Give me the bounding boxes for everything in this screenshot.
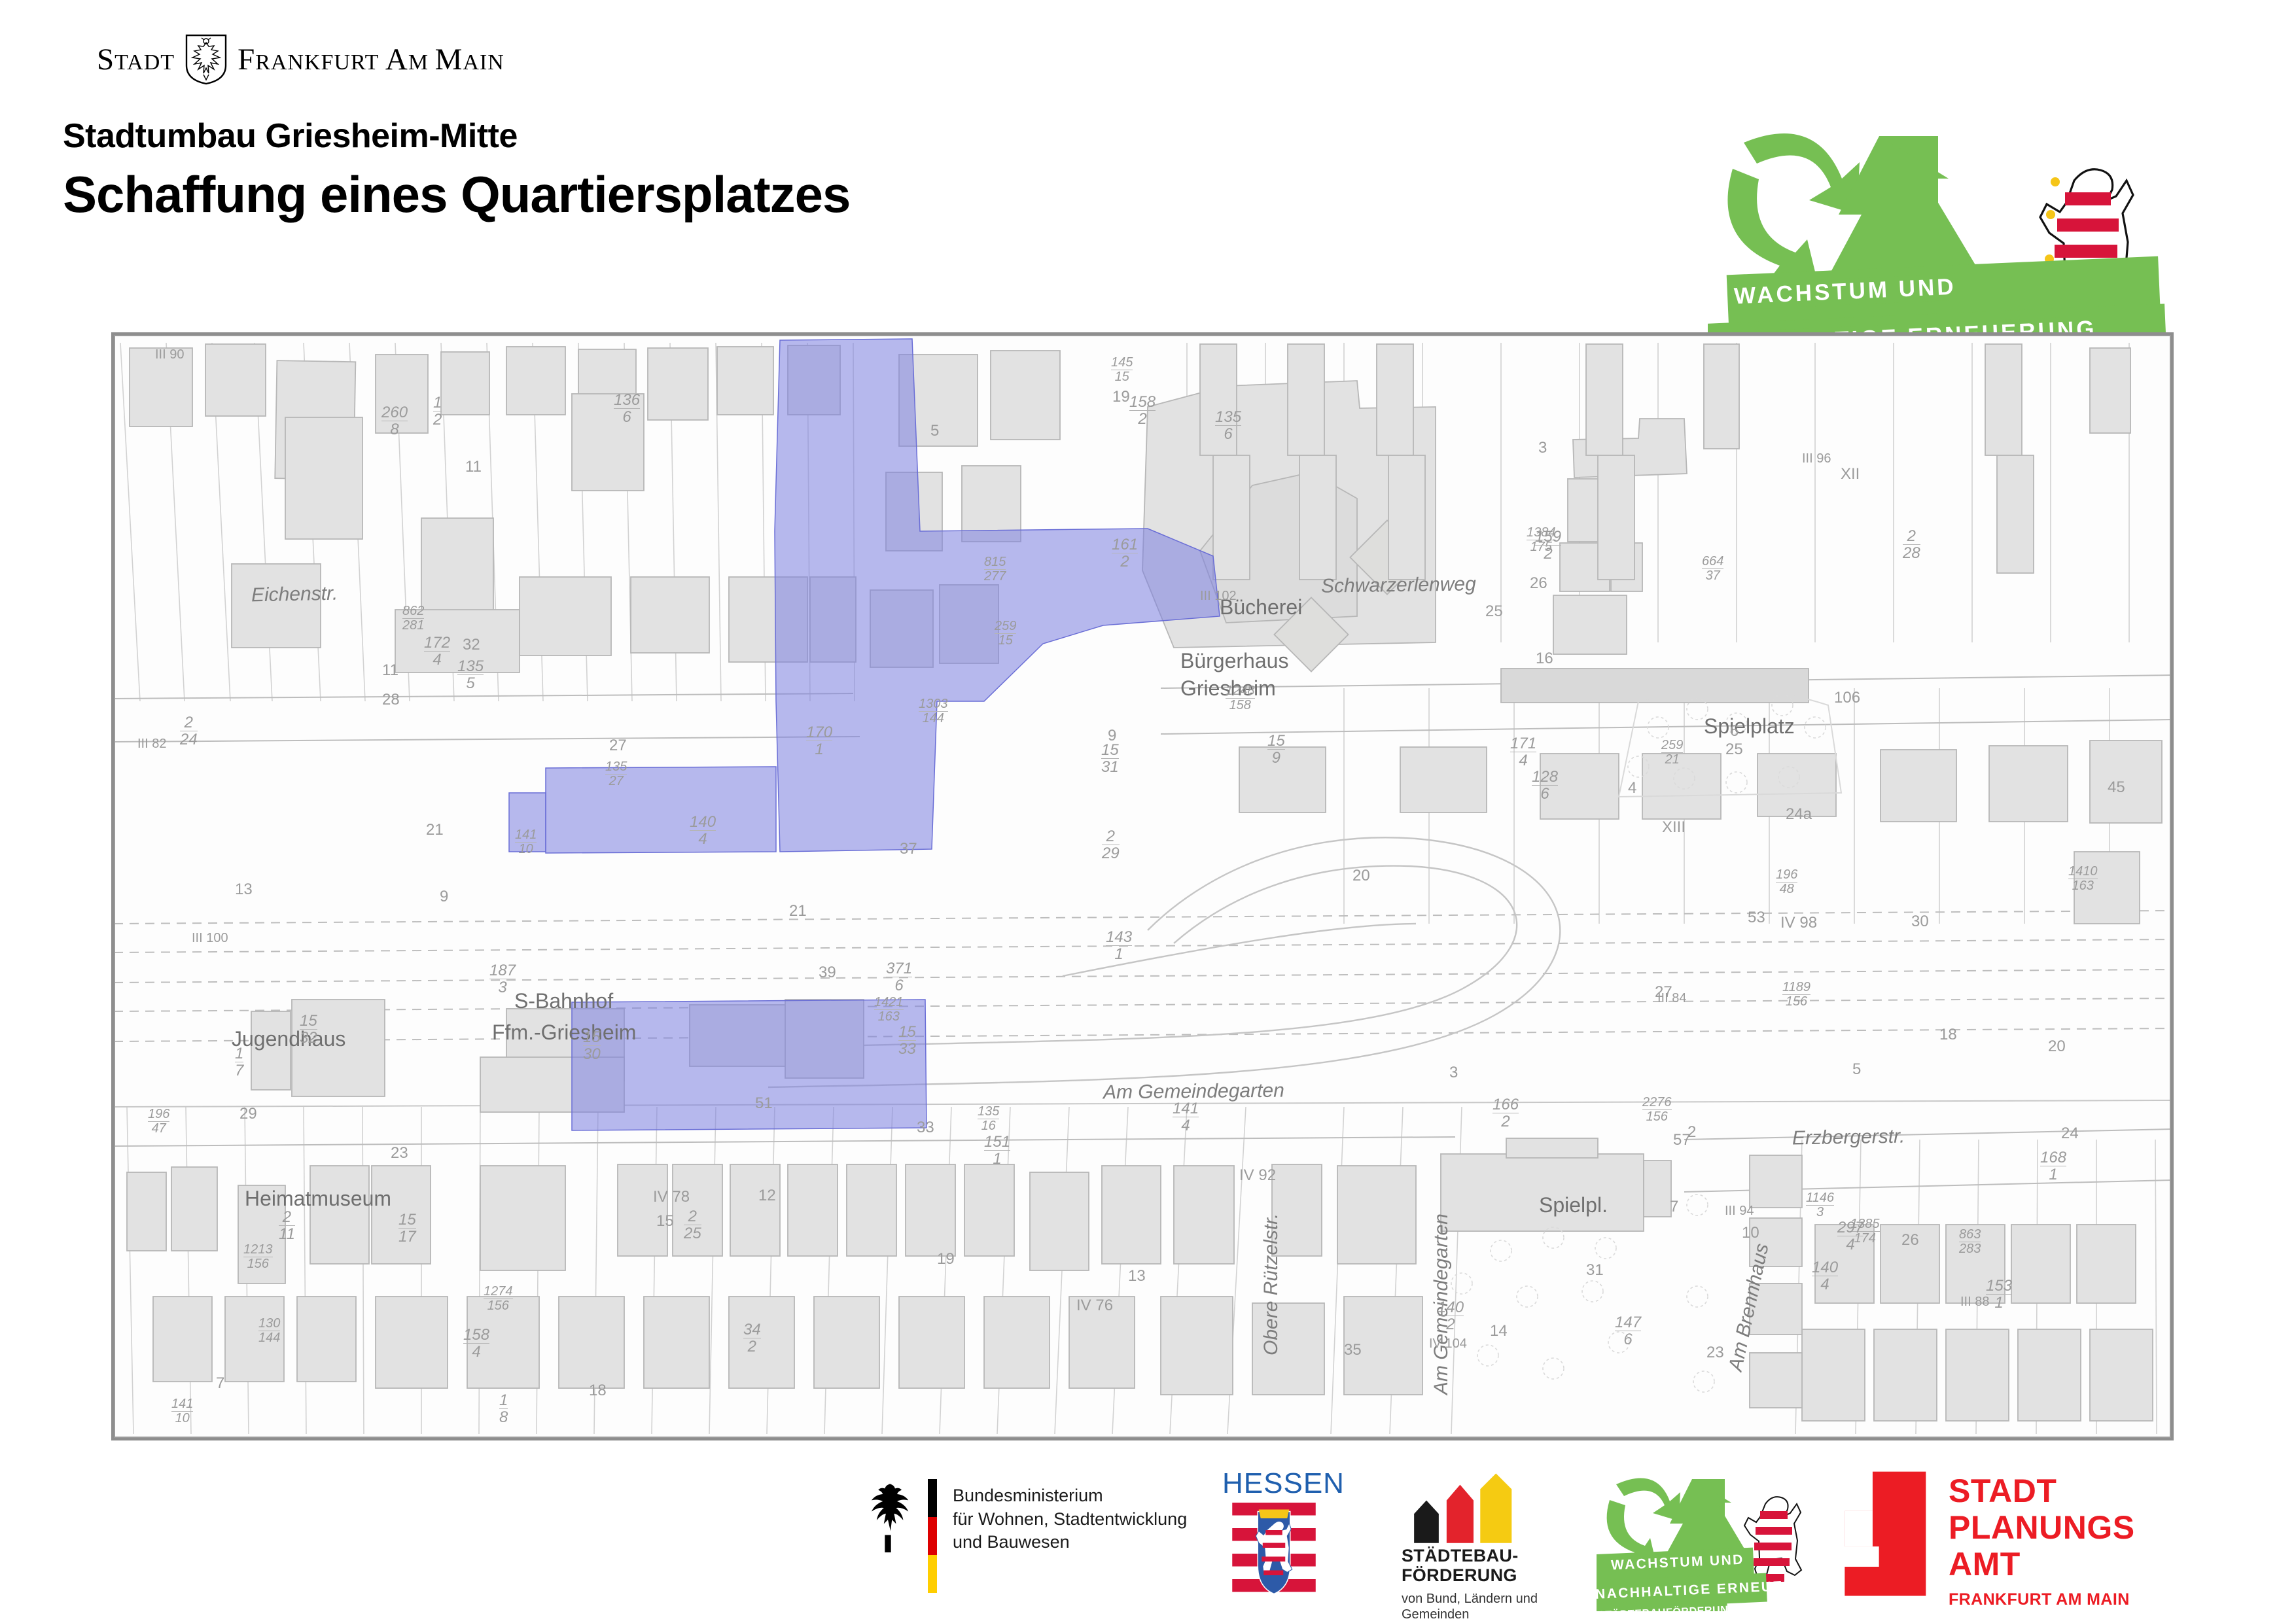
flag-stripe-red — [928, 1517, 937, 1555]
funding-logo-bar: Bundesministerium für Wohnen, Stadtentwi… — [0, 1462, 2296, 1622]
hessen-lion-shield-icon — [1218, 1503, 1330, 1601]
title-block: Stadtumbau Griesheim-Mitte Schaffung ein… — [63, 116, 850, 224]
flag-stripe-gold — [928, 1555, 937, 1593]
stadtplanungsamt-mark-icon — [1831, 1471, 1932, 1599]
stadtplanungsamt-line-1: STADT — [1949, 1473, 2057, 1509]
bundesministerium-line-1: Bundesministerium — [953, 1484, 1187, 1508]
stadtplanungsamt-line-3: AMT — [1949, 1546, 2021, 1582]
flag-stripe-black — [928, 1479, 937, 1517]
stadt-frankfurt-wordmark-right: FRANKFURT AM MAIN — [238, 42, 504, 77]
stadtplanungsamt-line-2: PLANUNGS — [1949, 1509, 2135, 1546]
project-subtitle: Stadtumbau Griesheim-Mitte — [63, 116, 850, 156]
page-title: Schaffung eines Quartiersplatzes — [63, 165, 850, 224]
staedtebau-sub-line-1: von Bund, Ländern und — [1402, 1590, 1538, 1607]
bundesministerium-line-2: für Wohnen, Stadtentwicklung — [953, 1508, 1187, 1531]
staedtebau-title-line-1: STÄDTEBAU- — [1402, 1546, 1519, 1567]
page-header: STADT FRANKFURT AM MAIN Stadtumbau Gries… — [0, 0, 2296, 307]
staedtebaufoerderung-logo: STÄDTEBAU- FÖRDERUNG von Bund, Ländern u… — [1386, 1462, 1582, 1622]
stadt-frankfurt-logo: STADT FRANKFURT AM MAIN — [97, 34, 504, 85]
hessen-wordmark: HESSEN — [1222, 1467, 1345, 1500]
bundesministerium-line-3: und Bauwesen — [953, 1531, 1187, 1554]
staedtebau-title-line-2: FÖRDERUNG — [1402, 1565, 1517, 1586]
bundesministerium-logo: Bundesministerium für Wohnen, Stadtentwi… — [851, 1462, 1217, 1622]
frankfurt-eagle-crest-icon — [185, 34, 227, 85]
stadtplanungsamt-subline: FRANKFURT AM MAIN — [1949, 1590, 2130, 1609]
three-houses-icon — [1400, 1471, 1531, 1550]
staedtebau-sub-line-2: Gemeinden — [1402, 1606, 1469, 1623]
stadt-frankfurt-wordmark-left: STADT — [97, 42, 175, 77]
bundesadler-icon — [860, 1478, 916, 1560]
map-drawing — [114, 335, 2171, 1438]
highlight-west-arm — [546, 767, 776, 853]
wachstum-erneuerung-logo: WACHSTUM UND NACHHALTIGE ERNEUERUNG STÄD… — [1597, 1462, 1819, 1622]
cadastral-map[interactable]: Eichenstr. Schwarzerlenweg Erzbergerstr.… — [111, 332, 2174, 1440]
highlight-west-tip — [509, 793, 546, 852]
highlight-south-square — [572, 1000, 927, 1130]
stadtplanungsamt-logo: STADT PLANUNGS AMT FRANKFURT AM MAIN — [1826, 1462, 2153, 1622]
hessen-logo: HESSEN — [1217, 1462, 1341, 1622]
